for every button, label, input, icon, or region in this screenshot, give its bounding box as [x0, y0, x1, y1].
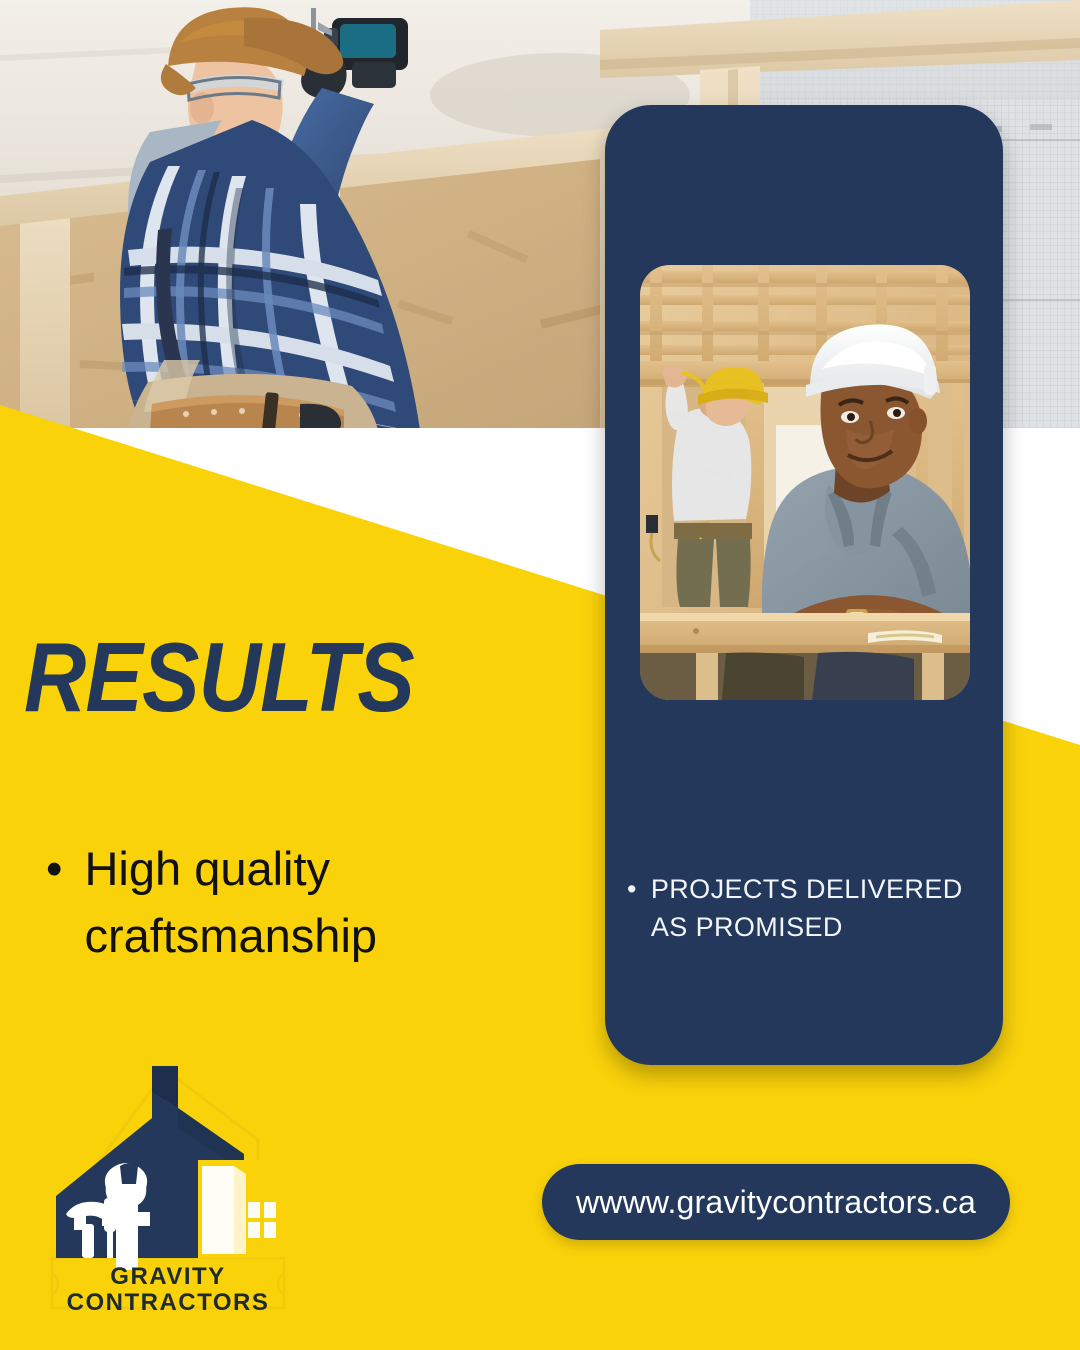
left-bullet-item: • High quality craftsmanship: [46, 836, 516, 969]
card-construction-photo: [640, 265, 970, 700]
website-url-label: wwww.gravitycontractors.ca: [576, 1184, 976, 1221]
logo-artwork: GRAVITY CONTRACTORS: [48, 1062, 288, 1312]
poster-canvas: RESULTS • High quality craftsmanship: [0, 0, 1080, 1350]
card-bullet-dot-icon: •: [627, 870, 637, 908]
brand-logo: GRAVITY CONTRACTORS: [48, 1062, 288, 1312]
logo-line1: GRAVITY: [110, 1263, 225, 1290]
left-bullet-text: High quality craftsmanship: [84, 836, 516, 969]
logo-line2: CONTRACTORS: [67, 1289, 270, 1312]
page-title: RESULTS: [24, 626, 414, 729]
card-bullet-item: • PROJECTS DELIVERED AS PROMISED: [627, 870, 989, 947]
card-photo-artwork: [640, 265, 970, 700]
bullet-dot-icon: •: [46, 836, 62, 903]
card-bullet-text: PROJECTS DELIVERED AS PROMISED: [651, 870, 989, 947]
website-url-button[interactable]: wwww.gravitycontractors.ca: [542, 1164, 1010, 1240]
navy-feature-card: • PROJECTS DELIVERED AS PROMISED: [605, 105, 1003, 1065]
